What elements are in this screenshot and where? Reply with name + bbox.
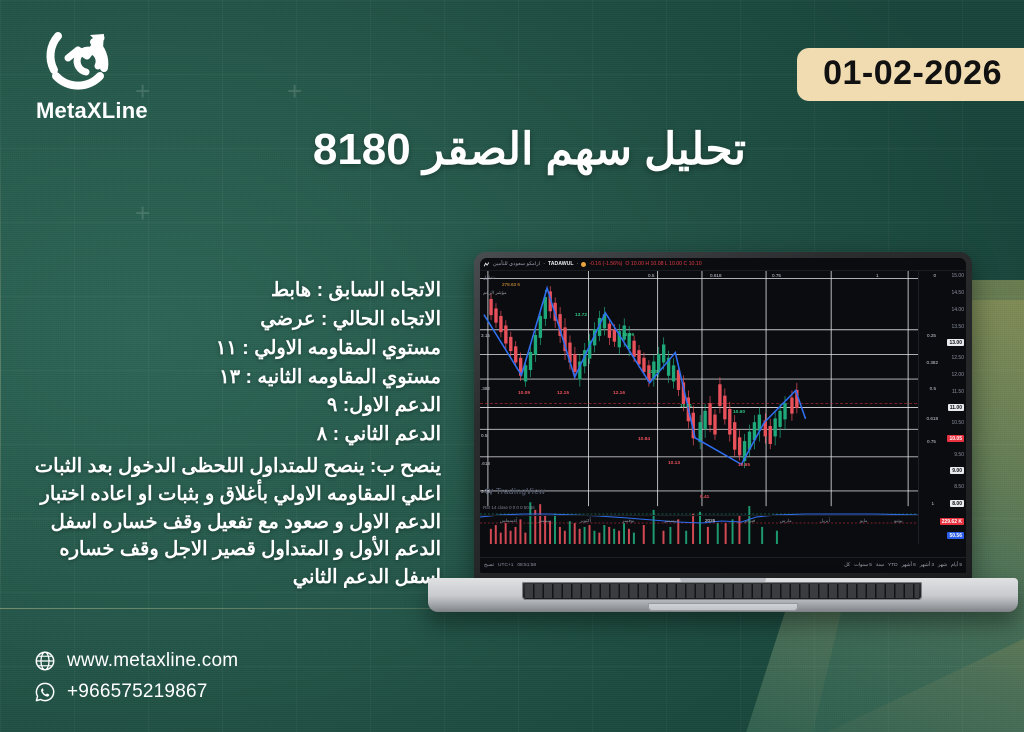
chart-change: -0.16 (-1.56%) — [589, 261, 622, 267]
fib-axis-label: 0.25 — [927, 333, 936, 338]
plus-ornament-icon: + — [135, 200, 150, 226]
website-url: www.metaxline.com — [67, 650, 238, 672]
price-tick: 10.50 — [951, 420, 964, 426]
status-right-label: تصبح — [484, 563, 494, 568]
chart-logo-icon — [483, 261, 490, 268]
price-annotation: 13.09 — [622, 333, 634, 338]
time-tick: يونيو — [894, 518, 903, 524]
price-tick: 15.00 — [951, 273, 964, 279]
chart-status-bar[interactable]: تصبح UTC+1 08:51:58 5 أيام شهر 3 أشهر 6 … — [480, 557, 966, 573]
time-tick: ديسمبر — [664, 518, 678, 524]
price-annotation: 12.16 — [613, 391, 625, 396]
timeframe-all[interactable]: كل — [844, 563, 850, 568]
fib-label-top: 0.75 — [772, 273, 781, 278]
chart-symbol: TADAWUL — [548, 261, 574, 267]
timeframe-3m[interactable]: 3 أشهر — [920, 563, 934, 568]
price-annotation: 11.36 — [648, 370, 660, 375]
price-tick: 11.50 — [952, 389, 964, 395]
status-clock: 08:51:58 — [517, 563, 536, 568]
poster-canvas: + + + MetaXLine 01-02-2026 تحليل سهم الص… — [0, 0, 1024, 732]
status-timezone: UTC+1 — [498, 563, 513, 568]
price-tick: 14.00 — [951, 307, 964, 313]
footer-contact: www.metaxline.com +966575219867 — [34, 650, 238, 712]
chart-legend-value: 6 278.63 — [502, 282, 520, 287]
chart-status-dot-icon — [581, 262, 586, 267]
analysis-line: الدعم الثاني : ٨ — [21, 420, 441, 449]
brand-logo: MetaXLine — [32, 24, 172, 124]
analysis-text-block: الاتجاه السابق : هابط الاتجاه الحالي : ع… — [21, 276, 441, 592]
fib-label-top: 1 — [876, 273, 879, 278]
price-annotation: 10.81 — [680, 404, 692, 409]
price-tick: 13.50 — [951, 324, 964, 330]
price-tick: 12.50 — [951, 355, 964, 361]
time-tick: أبريل — [820, 518, 830, 524]
timeframe-1y[interactable]: سنة — [876, 563, 884, 568]
fib-label-top: 0.618 — [710, 273, 722, 278]
price-annotation: 10.84 — [638, 437, 650, 442]
time-tick: فبراير — [744, 518, 755, 524]
fib-label-left: .382 — [481, 386, 490, 391]
analysis-line: مستوي المقاومه الاولي : ١١ — [21, 334, 441, 363]
volume-badge: 229.62 K — [940, 518, 964, 525]
laptop-screen: ارامكو سعودي للتأمين · TADAWUL · -0.16 (… — [480, 258, 966, 573]
price-tick-highlight: 9.00 — [950, 467, 964, 474]
date-badge: 01-02-2026 — [797, 48, 1024, 101]
plus-ornament-icon: + — [287, 78, 302, 104]
fib-label-top: 0.5 — [648, 273, 654, 278]
analysis-line: مستوي المقاومه الثانيه : ١٣ — [21, 363, 441, 392]
chart-plot-area[interactable]: 3.15 .382 0.5 .618 3.75 0.5 0.618 0.75 1… — [480, 271, 918, 544]
globe-icon — [34, 650, 56, 672]
fib-label-left: 0.5 — [481, 433, 487, 438]
tradingview-chart[interactable]: ارامكو سعودي للتأمين · TADAWUL · -0.16 (… — [480, 258, 966, 573]
time-tick: أغسطس — [500, 518, 517, 524]
price-tick: 9.50 — [954, 452, 964, 458]
current-price-badge: 10.05 — [947, 435, 964, 442]
time-tick: مايو — [860, 518, 868, 524]
fib-label-left: 3.15 — [481, 333, 490, 338]
left-vertical-divider — [0, 128, 1, 610]
price-annotation: 10.13 — [668, 461, 680, 466]
page-title: تحليل سهم الصقر 8180 — [146, 124, 746, 175]
chart-price-axis[interactable]: 15.00 14.50 14.00 13.50 13.00 12.50 12.0… — [918, 271, 966, 544]
laptop-lid: ارامكو سعودي للتأمين · TADAWUL · -0.16 (… — [474, 252, 972, 582]
footer-phone-row[interactable]: +966575219867 — [34, 681, 238, 703]
time-tick: مارس — [780, 518, 792, 524]
timeframe-5y[interactable]: 5 سنوات — [854, 563, 872, 568]
fib-axis-label: 1 — [931, 501, 934, 506]
analysis-line: الاتجاه الحالي : عرضي — [21, 305, 441, 334]
price-tick: 14.50 — [951, 290, 964, 296]
fib-axis-label: 0 — [933, 273, 936, 278]
chart-ohlc: O 10.00 H 10.08 L 10.00 C 10.10 — [625, 261, 701, 267]
watermark-text: TradingView — [496, 487, 545, 496]
time-tick: نوفمبر — [622, 518, 634, 524]
time-tick: أكتوبر — [580, 518, 591, 524]
timeframe-5d[interactable]: 5 أيام — [951, 563, 962, 568]
price-annotation: 9.41 — [700, 495, 709, 500]
keyboard-keys — [525, 584, 919, 598]
price-annotation: 10.60 — [733, 410, 745, 415]
timeframe-1m[interactable]: شهر — [938, 563, 947, 568]
price-tick-highlight: 11.00 — [948, 404, 964, 411]
laptop-keyboard — [522, 582, 922, 600]
timeframe-6m[interactable]: 6 أشهر — [902, 563, 916, 568]
recommendation-text: ينصح ب: ينصح للمتداول اللحظى الدخول بعد … — [21, 453, 441, 591]
brand-name: MetaXLine — [36, 98, 172, 124]
analysis-line: الاتجاه السابق : هابط — [21, 276, 441, 305]
fib-axis-label: 0.75 — [927, 439, 936, 444]
footer-website-row[interactable]: www.metaxline.com — [34, 650, 238, 672]
price-annotation: 10.65 — [738, 463, 750, 468]
time-tick-year: 2026 — [705, 518, 715, 523]
chart-legend-item: متداول — [483, 275, 496, 281]
rsi-legend: RSI 14 close 0 0 0 0 50.56 — [483, 505, 535, 510]
fib-axis-label: 0.5 — [930, 386, 936, 391]
chart-symbol-arabic: ارامكو سعودي للتأمين — [493, 261, 540, 267]
chart-header-bar[interactable]: ارامكو سعودي للتأمين · TADAWUL · -0.16 (… — [480, 258, 966, 271]
phone-number: +966575219867 — [67, 681, 208, 703]
fib-axis-label: 0.618 — [927, 416, 939, 421]
chart-legend-item: مؤشر الزخم — [483, 290, 507, 296]
laptop-mockup: ارامكو سعودي للتأمين · TADAWUL · -0.16 (… — [428, 252, 1018, 642]
fib-axis-label: 0.382 — [927, 360, 939, 365]
laptop-trackpad — [648, 603, 798, 611]
price-tick: 8.50 — [954, 484, 964, 490]
price-tick-highlight: 8.00 — [950, 500, 964, 507]
tradingview-logo-icon — [485, 488, 494, 495]
circular-growth-arrow-icon — [38, 24, 122, 96]
price-annotation: 12.15 — [557, 391, 569, 396]
price-tick: 12.00 — [951, 372, 964, 378]
chart-body[interactable]: 3.15 .382 0.5 .618 3.75 0.5 0.618 0.75 1… — [480, 271, 966, 544]
chart-time-axis[interactable]: أغسطس سبتمبر أكتوبر نوفمبر ديسمبر 2026 ف… — [480, 515, 918, 528]
timeframe-ytd[interactable]: YTD — [888, 563, 898, 568]
rsi-badge: 50.56 — [947, 532, 964, 539]
fib-label-left: .618 — [481, 461, 490, 466]
timeframe-selector[interactable]: 5 أيام شهر 3 أشهر 6 أشهر YTD سنة 5 سنوات… — [844, 563, 962, 568]
price-plot-svg — [480, 271, 918, 544]
price-annotation: 10.09 — [518, 391, 530, 396]
price-tick-highlight: 13.00 — [947, 339, 964, 346]
whatsapp-icon — [34, 681, 56, 703]
price-annotation: 13.72 — [575, 313, 587, 318]
tradingview-watermark: TradingView — [485, 487, 545, 496]
time-tick: سبتمبر — [538, 518, 551, 524]
analysis-line: الدعم الاول: ٩ — [21, 391, 441, 420]
